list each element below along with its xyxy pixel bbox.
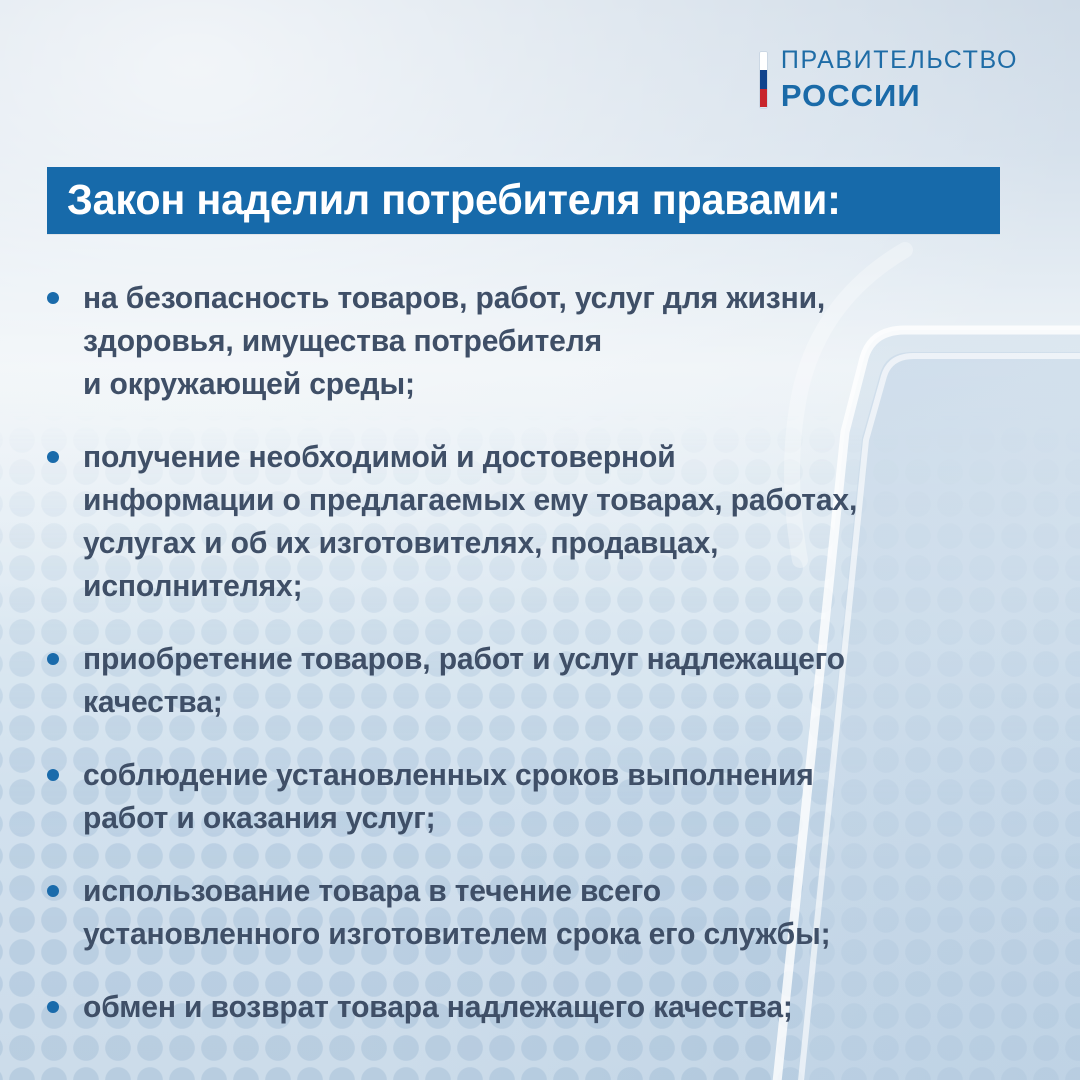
list-item: соблюдение установленных сроков выполнен… [47, 754, 1007, 840]
flag-stripe-blue [760, 70, 767, 89]
list-item-text: на безопасность товаров, работ, услуг дл… [83, 277, 825, 406]
list-item-text: обмен и возврат товара надлежащего качес… [83, 986, 793, 1029]
logo-line-government: ПРАВИТЕЛЬСТВО [781, 48, 1018, 73]
bullet-marker-icon [47, 292, 59, 304]
bullet-marker-icon [47, 653, 59, 665]
list-item: на безопасность товаров, работ, услуг дл… [47, 277, 1007, 406]
list-item-text: получение необходимой и достоверной инфо… [83, 436, 857, 608]
logo-wordmark: ПРАВИТЕЛЬСТВО РОССИИ [781, 48, 1018, 111]
government-logo: ПРАВИТЕЛЬСТВО РОССИИ [760, 48, 1018, 111]
flag-stripe-white [760, 52, 767, 71]
list-item: приобретение товаров, работ и услуг надл… [47, 638, 1007, 724]
bullet-marker-icon [47, 451, 59, 463]
list-item-text: приобретение товаров, работ и услуг надл… [83, 638, 845, 724]
poster-canvas: ПРАВИТЕЛЬСТВО РОССИИ Закон наделил потре… [0, 0, 1080, 1080]
bullet-marker-icon [47, 885, 59, 897]
list-item: обмен и возврат товара надлежащего качес… [47, 986, 1007, 1029]
title-banner: Закон наделил потребителя правами: [47, 167, 1000, 234]
russian-tricolor-bar-icon [760, 52, 767, 108]
bullet-marker-icon [47, 769, 59, 781]
list-item-text: использование товара в течение всего уст… [83, 870, 830, 956]
logo-line-russia: РОССИИ [781, 80, 1018, 111]
flag-stripe-red [760, 89, 767, 108]
rights-list: на безопасность товаров, работ, услуг дл… [47, 277, 1007, 1059]
page-title: Закон наделил потребителя правами: [67, 176, 841, 225]
bullet-marker-icon [47, 1001, 59, 1013]
list-item-text: соблюдение установленных сроков выполнен… [83, 754, 814, 840]
list-item: использование товара в течение всего уст… [47, 870, 1007, 956]
list-item: получение необходимой и достоверной инфо… [47, 436, 1007, 608]
